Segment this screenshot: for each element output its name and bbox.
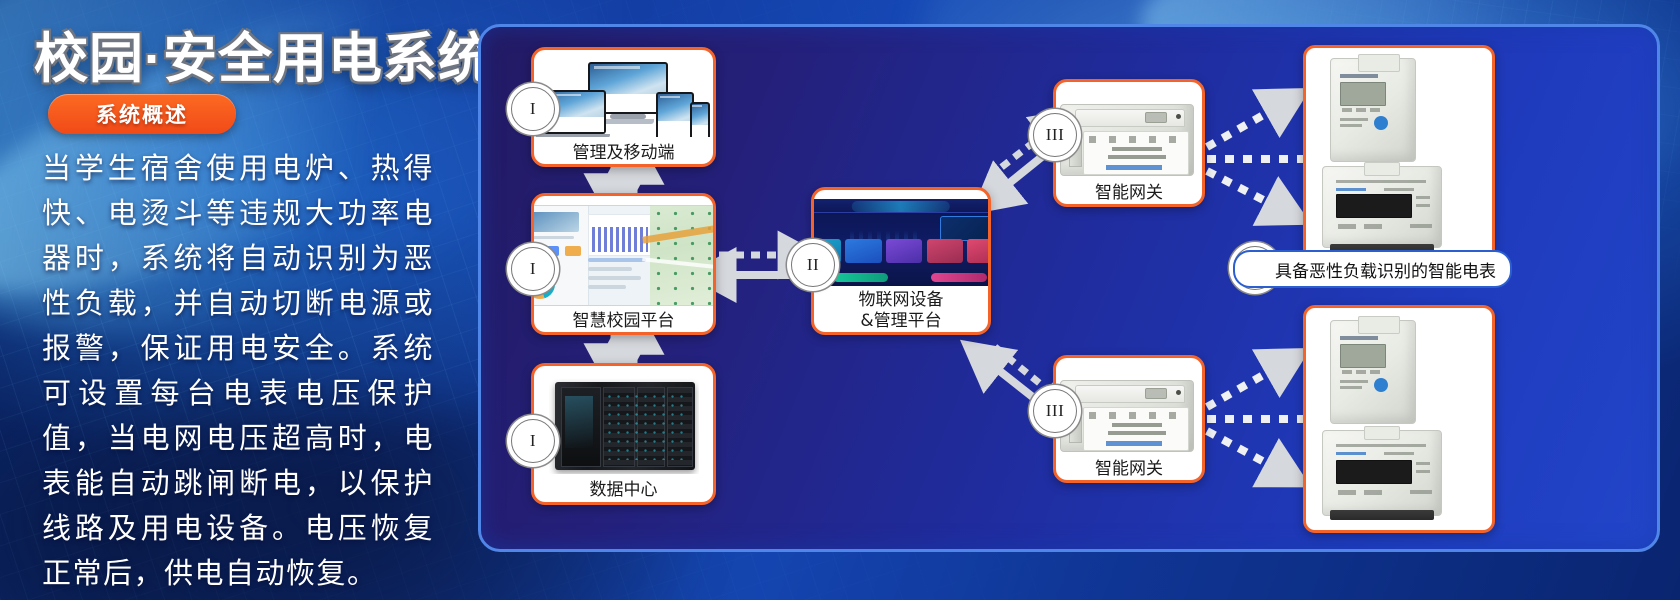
node-label-line2: &管理平台 [814, 311, 988, 332]
arrow-terminal-platform [615, 165, 633, 193]
server-rack-image [549, 378, 699, 474]
smart-meter-callout: 具备恶性负载识别的智能电表 [1233, 250, 1512, 288]
node-management-terminal[interactable]: 管理及移动端 [531, 47, 716, 167]
node-gateway-bottom[interactable]: 智能网关 [1053, 355, 1205, 483]
node-iot-platform[interactable]: 物联网设备 &管理平台 [811, 187, 991, 335]
page-title: 校园·安全用电系统 [34, 14, 464, 93]
poster-root: 校园·安全用电系统 系统概述 当学生宿舍使用电炉、热得快、电烫斗等违规大功率电器… [0, 0, 1680, 600]
section-badge: 系统概述 [48, 94, 236, 134]
marker-gateway-top: III [1033, 113, 1077, 157]
device-cluster-image [536, 62, 712, 137]
marker-smart-campus-platform: I [511, 247, 555, 291]
node-label: 智能网关 [1056, 183, 1202, 204]
overview-paragraph: 当学生宿舍使用电炉、热得快、电烫斗等违规大功率电器时，系统将自动识别为恶性负载，… [42, 146, 434, 596]
node-smart-campus-platform[interactable]: 智慧校园平台 [531, 193, 716, 335]
meters-panel-bottom[interactable] [1303, 305, 1495, 533]
node-label-line1: 物联网设备 [814, 290, 988, 311]
marker-gateway-bottom: III [1033, 389, 1077, 433]
arrow-platform-datacenter [615, 335, 633, 363]
node-data-center[interactable]: 数据中心 [531, 363, 716, 505]
iot-dashboard-screenshot [811, 199, 991, 286]
system-architecture-diagram: 管理及移动端 I [478, 24, 1660, 552]
campus-platform-screenshot [531, 205, 716, 306]
single-phase-meter-image [1330, 320, 1416, 424]
node-label: 智慧校园平台 [534, 311, 713, 332]
three-phase-meter-image [1322, 166, 1442, 248]
node-label: 智能网关 [1056, 459, 1202, 480]
marker-management-terminal: I [511, 87, 555, 131]
meters-panel-top[interactable] [1303, 45, 1495, 261]
left-text-column: 校园·安全用电系统 系统概述 当学生宿舍使用电炉、热得快、电烫斗等违规大功率电器… [0, 0, 470, 600]
node-label: 数据中心 [534, 480, 713, 501]
smart-meter-callout-label: 具备恶性负载识别的智能电表 [1275, 257, 1496, 282]
marker-iot-platform: II [791, 243, 835, 287]
node-gateway-top[interactable]: 智能网关 [1053, 79, 1205, 207]
arrow-platform-iot [719, 255, 793, 275]
node-label: 管理及移动端 [534, 143, 713, 164]
marker-data-center: I [511, 419, 555, 463]
single-phase-meter-image [1330, 58, 1416, 162]
section-badge-label: 系统概述 [96, 99, 188, 129]
three-phase-meter-image [1322, 430, 1442, 516]
